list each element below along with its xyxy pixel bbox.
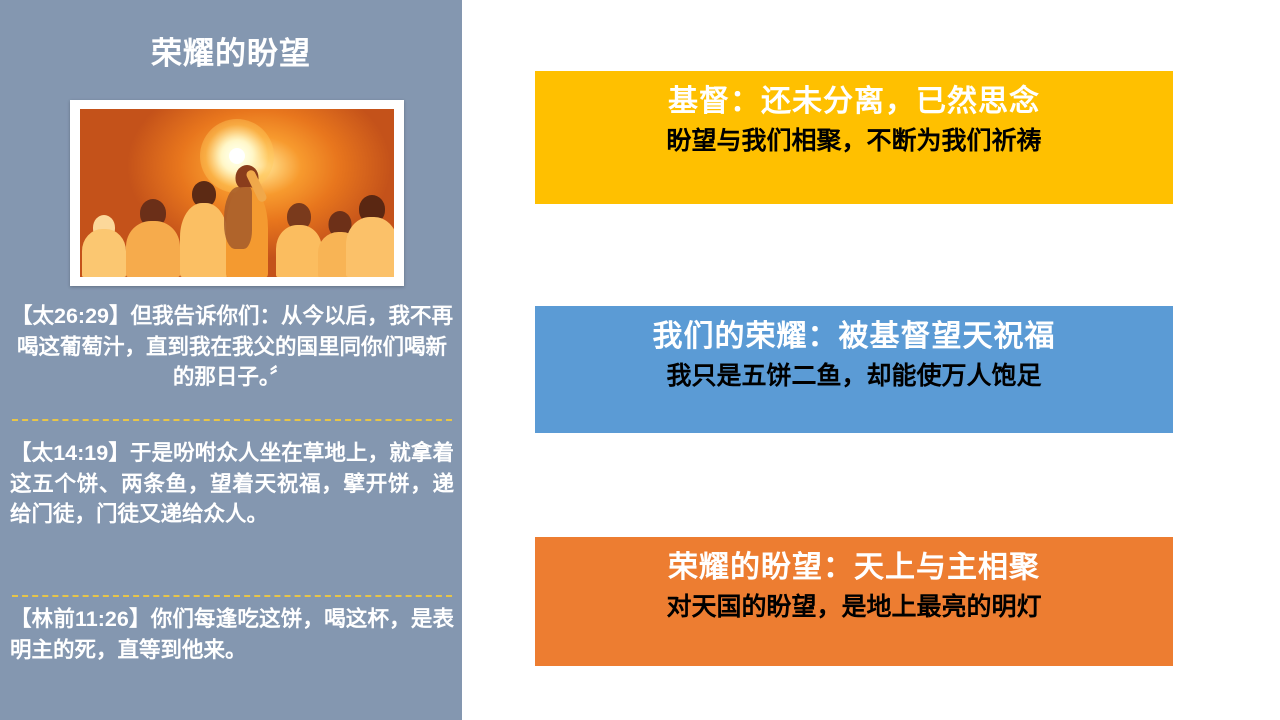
figure-silhouette	[346, 195, 394, 277]
page-title: 荣耀的盼望	[0, 36, 462, 72]
figure-silhouette	[276, 203, 322, 277]
point-heading: 我们的荣耀：被基督望天祝福	[545, 318, 1163, 356]
point-box-glory: 我们的荣耀：被基督望天祝福 我只是五饼二鱼，却能使万人饱足	[535, 306, 1173, 433]
illustration-frame	[70, 100, 404, 286]
jesus-raising-light-icon	[80, 109, 394, 277]
figure-silhouette	[82, 213, 126, 277]
point-heading: 荣耀的盼望：天上与主相聚	[545, 549, 1163, 587]
figure-silhouette	[180, 181, 228, 277]
scripture-verse: 【林前11:26】你们每逢吃这饼，喝这杯，是表明主的死，直等到他来。	[10, 604, 454, 665]
point-subtitle: 盼望与我们相聚，不断为我们祈祷	[545, 125, 1163, 158]
point-box-hope: 荣耀的盼望：天上与主相聚 对天国的盼望，是地上最亮的明灯	[535, 537, 1173, 666]
verse-divider	[12, 419, 452, 421]
sidebar-panel: 荣耀的盼望	[0, 0, 462, 720]
scripture-verse: 【太26:29】但我告诉你们：从今以后，我不再喝这葡萄汁，直到我在我父的国里同你…	[10, 301, 454, 393]
presentation-slide: 荣耀的盼望	[0, 0, 1280, 720]
point-subtitle: 对天国的盼望，是地上最亮的明灯	[545, 591, 1163, 624]
light-core-icon	[229, 148, 245, 164]
verse-divider	[12, 595, 452, 597]
point-subtitle: 我只是五饼二鱼，却能使万人饱足	[545, 360, 1163, 393]
scripture-verse: 【太14:19】于是吩咐众人坐在草地上，就拿着这五个饼、两条鱼，望着天祝福，擘开…	[10, 438, 454, 530]
figure-silhouette	[126, 199, 180, 277]
point-heading: 基督：还未分离，已然思念	[545, 83, 1163, 121]
central-figure-silhouette	[226, 165, 268, 277]
point-box-christ: 基督：还未分离，已然思念 盼望与我们相聚，不断为我们祈祷	[535, 71, 1173, 204]
